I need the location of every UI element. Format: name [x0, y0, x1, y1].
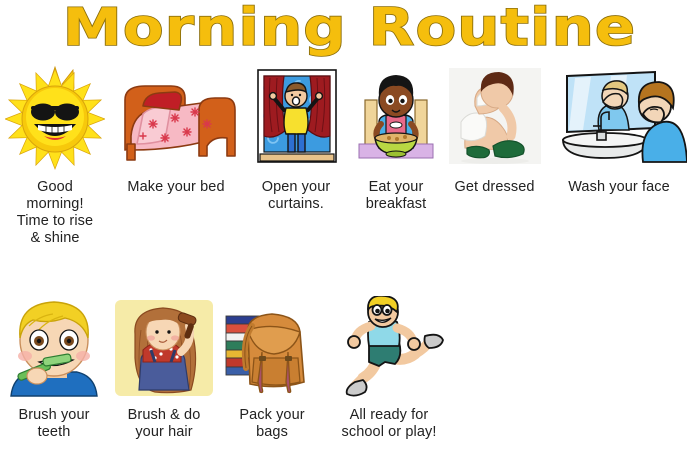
routine-caption: Make your bed	[127, 179, 224, 196]
routine-row-2: Brush your teeth	[0, 296, 700, 441]
routine-card-get-dressed[interactable]: Get dressed	[442, 62, 547, 196]
routine-card-brush-teeth[interactable]: Brush your teeth	[0, 296, 108, 441]
routine-card-ready-for-school[interactable]: All ready for school or play!	[324, 296, 454, 441]
routine-card-brush-hair[interactable]: Brush & do your hair	[108, 296, 220, 441]
boy-brushing-teeth-icon	[3, 296, 105, 400]
routine-card-good-morning[interactable]: Good morning! Time to rise & shine	[0, 62, 110, 247]
routine-card-pack-bags[interactable]: Pack your bags	[220, 296, 324, 441]
backpack-with-books-icon	[222, 296, 322, 400]
sun-with-sunglasses-icon	[5, 62, 105, 172]
routine-caption: Wash your face	[568, 179, 670, 196]
routine-caption: Brush your teeth	[18, 407, 89, 441]
routine-card-eat-breakfast[interactable]: Eat your breakfast	[350, 62, 442, 213]
routine-caption: Good morning! Time to rise & shine	[17, 179, 93, 247]
routine-row-1: Good morning! Time to rise & shine	[0, 62, 700, 247]
boy-washing-face-at-sink-icon	[551, 62, 687, 172]
girl-brushing-hair-icon	[111, 296, 217, 400]
child-putting-on-socks-icon	[445, 62, 545, 172]
routine-caption: Get dressed	[454, 179, 534, 196]
title-bar: Morning Routine	[0, 0, 700, 56]
running-boy-icon	[329, 296, 449, 400]
routine-caption: Open your curtains.	[262, 179, 331, 213]
routine-card-make-bed[interactable]: Make your bed	[110, 62, 242, 196]
boy-opening-curtains-icon	[244, 62, 348, 172]
page-title: Morning Routine	[63, 2, 636, 54]
routine-caption: Brush & do your hair	[128, 407, 201, 441]
routine-caption: Pack your bags	[239, 407, 304, 441]
routine-card-open-curtains[interactable]: Open your curtains.	[242, 62, 350, 213]
routine-caption: Eat your breakfast	[366, 179, 427, 213]
bed-icon	[113, 62, 239, 172]
routine-card-wash-face[interactable]: Wash your face	[547, 62, 691, 196]
child-eating-cereal-icon	[353, 62, 439, 172]
routine-caption: All ready for school or play!	[342, 407, 437, 441]
